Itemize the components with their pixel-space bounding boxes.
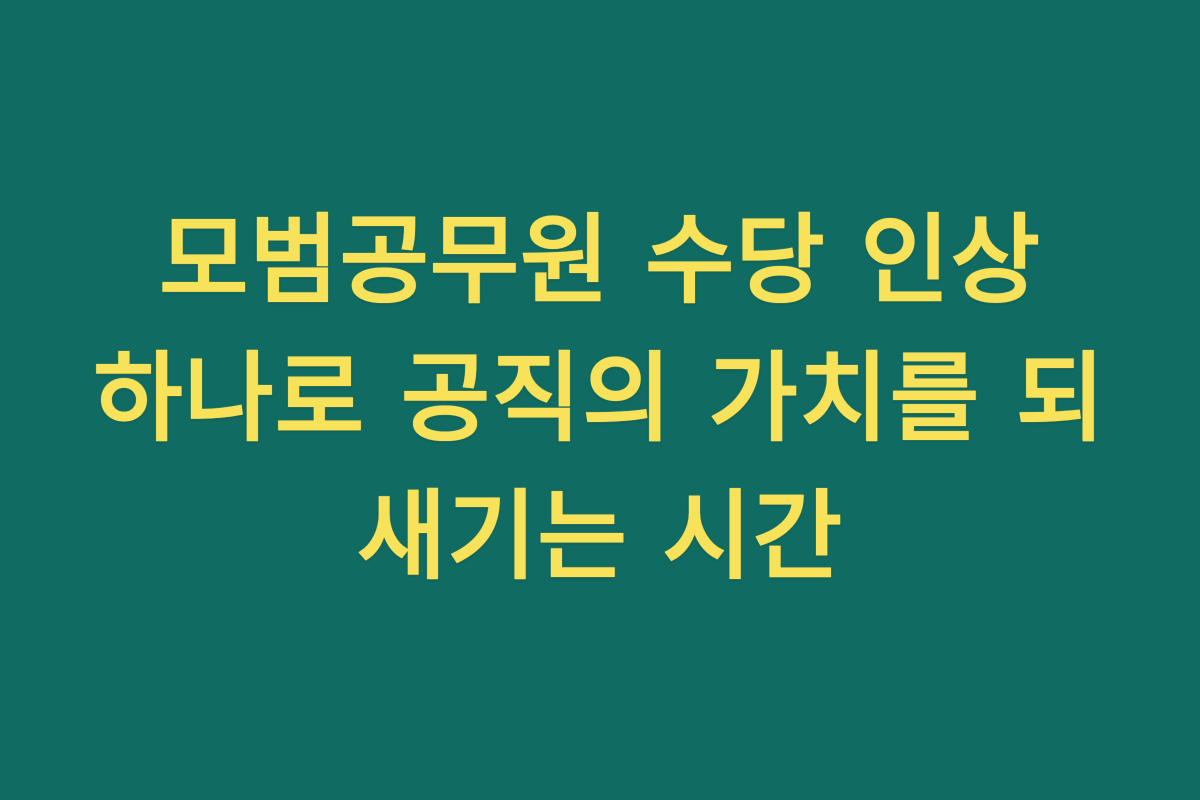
headline-line-1: 모범공무원 수당 인상 xyxy=(159,192,1041,330)
headline-line-2: 하나로 공직의 가치를 되 xyxy=(93,330,1106,468)
headline-line-3: 새기는 시간 xyxy=(357,468,843,606)
poster-canvas: 모범공무원 수당 인상 하나로 공직의 가치를 되 새기는 시간 xyxy=(0,0,1200,800)
headline-text-block: 모범공무원 수당 인상 하나로 공직의 가치를 되 새기는 시간 xyxy=(0,192,1200,606)
